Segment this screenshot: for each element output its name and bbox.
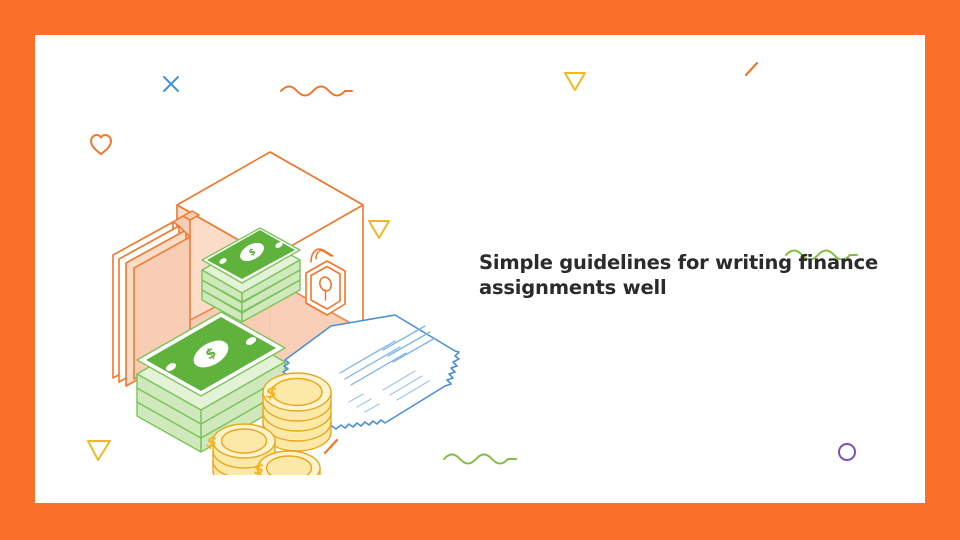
wavy-line-green-bottom <box>441 447 521 467</box>
cross-mark-icon <box>160 73 182 95</box>
page-title: Simple guidelines for writing finance as… <box>479 251 879 301</box>
triangle-yellow-top-icon <box>562 68 588 94</box>
heart-outline-icon <box>88 132 114 158</box>
circle-purple-icon <box>835 440 859 464</box>
slide-card: $ <box>35 35 925 503</box>
slash-orange-bottom-icon <box>321 435 343 457</box>
triangle-yellow-bottom-icon <box>83 433 113 463</box>
triangle-yellow-mid-icon <box>365 215 393 243</box>
finance-illustration: $ <box>95 130 475 470</box>
wavy-line-orange <box>278 80 356 98</box>
slide-canvas: $ <box>0 0 960 540</box>
slash-orange-top-icon <box>742 59 762 79</box>
title-block: Simple guidelines for writing finance as… <box>479 251 879 301</box>
